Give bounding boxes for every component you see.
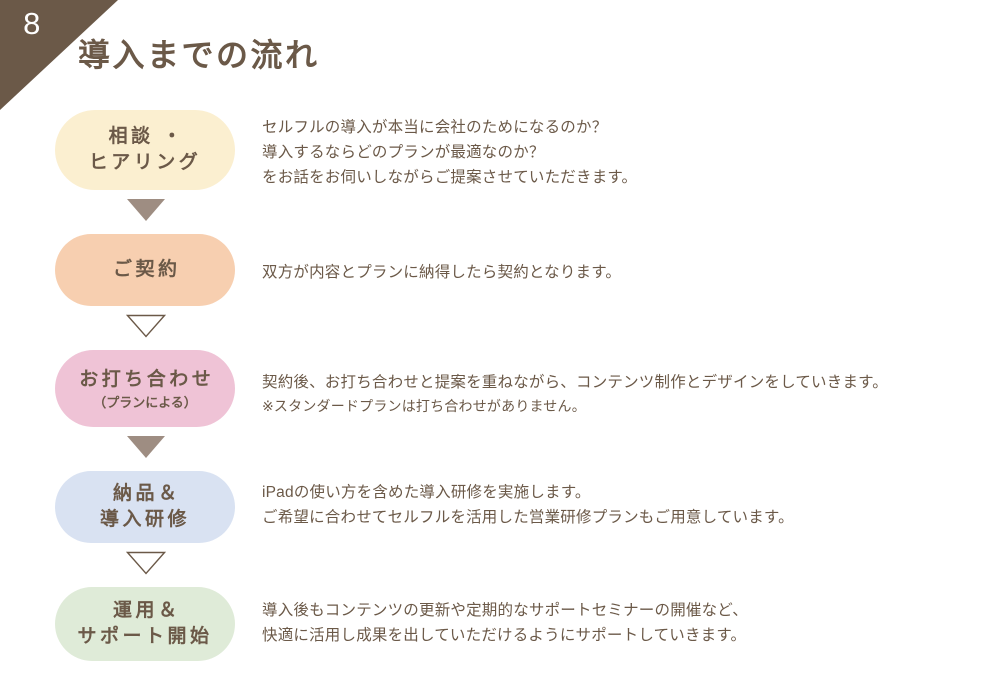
process-flow: 相談 ・ ヒアリングセルフルの導入が本当に会社のためになるのか？ 導入するならど… xyxy=(0,110,1000,661)
step-description: 双方が内容とプランに納得したら契約となります。 xyxy=(262,260,1000,285)
step-pill-5[interactable]: 運用＆ サポート開始 xyxy=(55,587,235,661)
step-pill-label: ご契約 xyxy=(109,257,180,283)
step-pill-label: お打ち合わせ xyxy=(76,367,215,393)
step-description: iPadの使い方を含めた導入研修を実施します。 ご希望に合わせてセルフルを活用し… xyxy=(262,480,1000,530)
step-description-text: 導入後もコンテンツの更新や定期的なサポートセミナーの開催など、 快適に活用し成果… xyxy=(262,602,748,644)
step-pill-1[interactable]: 相談 ・ ヒアリング xyxy=(55,110,235,190)
step-pill-label: 運用＆ サポート開始 xyxy=(77,598,212,650)
step-description: 契約後、お打ち合わせと提案を重ねながら、コンテンツ制作とデザインをしていきます。… xyxy=(262,370,1000,418)
step-description: セルフルの導入が本当に会社のためになるのか？ 導入するならどのプランが最適なのか… xyxy=(262,115,1000,190)
step-description-text: 双方が内容とプランに納得したら契約となります。 xyxy=(262,264,621,281)
step-description-text: 契約後、お打ち合わせと提案を重ねながら、コンテンツ制作とデザインをしていきます。 xyxy=(262,374,888,391)
flow-step: 運用＆ サポート開始導入後もコンテンツの更新や定期的なサポートセミナーの開催など… xyxy=(0,587,1000,661)
flow-step: 納品＆ 導入研修iPadの使い方を含めた導入研修を実施します。 ご希望に合わせて… xyxy=(0,471,1000,543)
flow-step: ご契約双方が内容とプランに納得したら契約となります。 xyxy=(0,234,1000,306)
page-title: 導入までの流れ xyxy=(78,36,320,74)
arrow-down-filled xyxy=(126,435,166,459)
step-pill-sublabel: （プランによる） xyxy=(93,395,197,411)
step-pill-label: 納品＆ 導入研修 xyxy=(100,481,190,533)
flow-connector xyxy=(0,190,1000,234)
arrow-down-filled xyxy=(126,198,166,222)
arrow-down-outline xyxy=(126,314,166,338)
flow-step: 相談 ・ ヒアリングセルフルの導入が本当に会社のためになるのか？ 導入するならど… xyxy=(0,110,1000,190)
step-description: 導入後もコンテンツの更新や定期的なサポートセミナーの開催など、 快適に活用し成果… xyxy=(262,598,1000,648)
slide-canvas: 8 導入までの流れ 相談 ・ ヒアリングセルフルの導入が本当に会社のためになるの… xyxy=(0,0,1000,692)
step-pill-label: 相談 ・ ヒアリング xyxy=(89,124,202,176)
arrow-down-outline xyxy=(126,551,166,575)
step-description-text: セルフルの導入が本当に会社のためになるのか？ 導入するならどのプランが最適なのか… xyxy=(262,119,637,186)
step-description-note: ※スタンダードプランは打ち合わせがありません。 xyxy=(262,395,1000,417)
flow-step: お打ち合わせ（プランによる）契約後、お打ち合わせと提案を重ねながら、コンテンツ制… xyxy=(0,350,1000,427)
step-pill-4[interactable]: 納品＆ 導入研修 xyxy=(55,471,235,543)
flow-connector xyxy=(0,427,1000,471)
flow-connector xyxy=(0,543,1000,587)
slide-number: 8 xyxy=(8,8,56,39)
step-description-text: iPadの使い方を含めた導入研修を実施します。 ご希望に合わせてセルフルを活用し… xyxy=(262,484,794,526)
flow-connector xyxy=(0,306,1000,350)
step-pill-3[interactable]: お打ち合わせ（プランによる） xyxy=(55,350,235,427)
step-pill-2[interactable]: ご契約 xyxy=(55,234,235,306)
